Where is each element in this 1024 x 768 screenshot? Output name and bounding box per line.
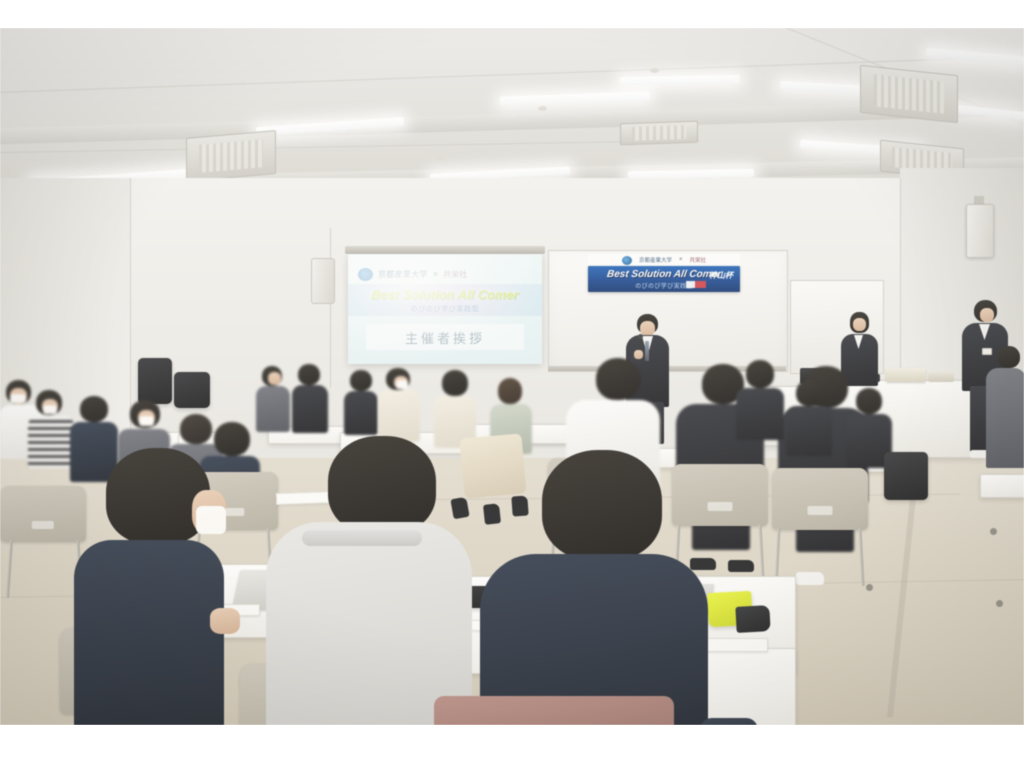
banner-partner-name: 共栄社 <box>690 256 707 264</box>
attendee-shoe <box>796 572 824 585</box>
attendee-head <box>856 388 882 414</box>
foreground-attendee-navy <box>480 450 712 725</box>
air-vent <box>860 65 958 123</box>
event-banner: Best Solution All Comer 神山杯 のびのび学び実践型 <box>588 266 740 292</box>
attendee-head <box>542 450 662 560</box>
chair-caster <box>996 600 1003 607</box>
draped-jacket <box>434 696 674 725</box>
smoke-detector-icon <box>538 106 547 111</box>
wall-seam <box>330 228 331 388</box>
staff-face <box>853 318 866 331</box>
attendee-suited <box>786 380 834 468</box>
attendee-suited <box>736 360 786 450</box>
attendee-head <box>328 436 436 534</box>
smoke-detector-icon <box>436 156 445 161</box>
foreground-attendee-left <box>74 448 226 725</box>
sweatshirt-collar <box>302 530 422 546</box>
attendee-jacket <box>700 718 758 725</box>
attendee-head <box>350 370 372 391</box>
pencil-case-flap <box>735 605 770 633</box>
equipment-box <box>886 368 926 382</box>
attendee-top <box>344 391 378 435</box>
staff-head <box>998 346 1020 368</box>
foreground-attendee-partial <box>700 718 760 725</box>
face-mask <box>10 394 26 403</box>
wall-speaker <box>311 258 335 304</box>
banner-flag-graphic <box>686 281 706 288</box>
attendee-suit <box>736 388 784 440</box>
face-mask <box>196 506 226 534</box>
staff-face <box>980 308 994 322</box>
attendee-head <box>80 396 108 422</box>
face-mask <box>139 416 154 426</box>
attendee-head <box>498 378 522 404</box>
chair-caster <box>990 528 997 535</box>
attendee-head <box>746 360 774 388</box>
attendee-shoe <box>728 560 754 572</box>
attendee-top <box>378 390 420 442</box>
attendee-top <box>256 386 290 432</box>
university-logo-icon <box>622 256 632 265</box>
air-vent <box>620 121 698 146</box>
equipment-box <box>928 372 954 382</box>
banner-university-name: 京都産業大学 <box>639 256 672 264</box>
seminar-room-scene: 京都産業大学 × 共栄社 Best Solution All Comer のびの… <box>0 28 1024 725</box>
attendee-top <box>292 385 328 433</box>
right-table <box>980 474 1024 498</box>
projection-screen: 京都産業大学 × 共栄社 Best Solution All Comer のびの… <box>348 254 542 364</box>
air-vent <box>186 130 276 182</box>
attendee-jacket <box>74 540 224 725</box>
chair-backrest <box>772 468 868 530</box>
backpack <box>174 372 210 408</box>
staff-jacket <box>986 368 1024 468</box>
attendee-head <box>298 364 320 385</box>
foreground-attendee-grey <box>266 436 476 725</box>
attendee-head <box>596 358 640 400</box>
attendee-head <box>442 370 468 396</box>
banner-logo-row: 京都産業大学 × 共栄社 <box>588 254 740 266</box>
face-mask <box>396 380 408 389</box>
wall-speaker <box>966 204 994 258</box>
banner-separator: × <box>679 257 683 263</box>
smoke-detector-icon <box>650 68 659 73</box>
photograph: 京都産業大学 × 共栄社 Best Solution All Comer のびの… <box>0 0 1024 768</box>
banner-subtitle: のびのび学び実践型 <box>588 281 740 290</box>
banner-suffix: 神山杯 <box>709 270 733 281</box>
face-mask <box>43 405 57 414</box>
attendee-top <box>28 416 74 468</box>
attendee-hand <box>210 608 240 634</box>
attendee-head <box>796 380 822 406</box>
backpack <box>884 452 928 500</box>
screen-glare <box>348 254 542 364</box>
letterbox-bottom <box>0 725 1024 768</box>
chair-caster <box>866 584 873 591</box>
projector-screen-case <box>345 246 545 254</box>
attendee-suit <box>786 406 832 456</box>
attendee <box>28 390 76 500</box>
attendee-face <box>268 372 281 385</box>
letterbox-top <box>0 0 1024 28</box>
attendee-sweatshirt <box>266 522 472 725</box>
backpack <box>138 358 172 404</box>
